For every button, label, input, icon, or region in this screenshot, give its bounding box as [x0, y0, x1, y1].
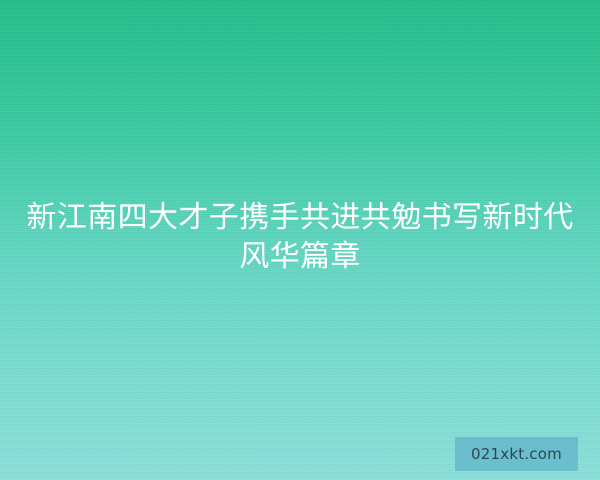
image-canvas: 新江南四大才子携手共进共勉书写新时代风华篇章 021xkt.com [0, 0, 600, 480]
headline-title: 新江南四大才子携手共进共勉书写新时代风华篇章 [0, 198, 600, 276]
watermark-badge: 021xkt.com [455, 437, 578, 471]
watermark-label: 021xkt.com [471, 447, 562, 462]
